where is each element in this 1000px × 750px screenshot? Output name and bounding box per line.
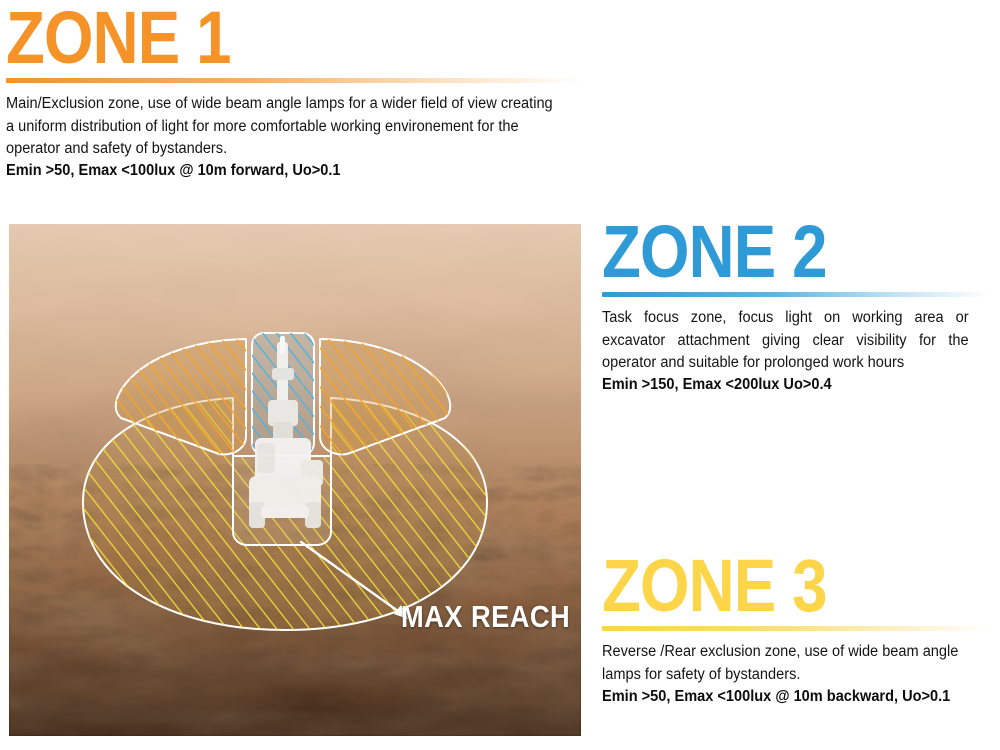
zone3-block: ZONE 3 Reverse /Rear exclusion zone, use… [602, 552, 992, 708]
zone2-title: ZONE 2 [602, 218, 937, 286]
zone-diagram-panel: MAX REACH [9, 224, 581, 736]
infographic-page: ZONE 1 Main/Exclusion zone, use of wide … [0, 0, 1000, 750]
zone1-body: Main/Exclusion zone, use of wide beam an… [6, 93, 555, 183]
zone2-description: Task focus zone, focus light on working … [602, 307, 969, 374]
max-reach-label: MAX REACH [401, 599, 570, 635]
zone3-spec: Emin >50, Emax <100lux @ 10m backward, U… [602, 686, 969, 708]
zone3-description: Reverse /Rear exclusion zone, use of wid… [602, 641, 969, 686]
zone2-block: ZONE 2 Task focus zone, focus light on w… [602, 218, 992, 397]
zone1-spec: Emin >50, Emax <100lux @ 10m forward, Uo… [6, 160, 555, 182]
zone2-spec: Emin >150, Emax <200lux Uo>0.4 [602, 374, 969, 396]
zone1-block: ZONE 1 Main/Exclusion zone, use of wide … [6, 4, 590, 183]
light-zone-overlay [9, 224, 581, 736]
zone3-body: Reverse /Rear exclusion zone, use of wid… [602, 641, 969, 708]
zone1-title: ZONE 1 [6, 4, 508, 72]
zone3-title: ZONE 3 [602, 552, 937, 620]
zone2-body: Task focus zone, focus light on working … [602, 307, 969, 397]
zone1-description: Main/Exclusion zone, use of wide beam an… [6, 93, 555, 160]
